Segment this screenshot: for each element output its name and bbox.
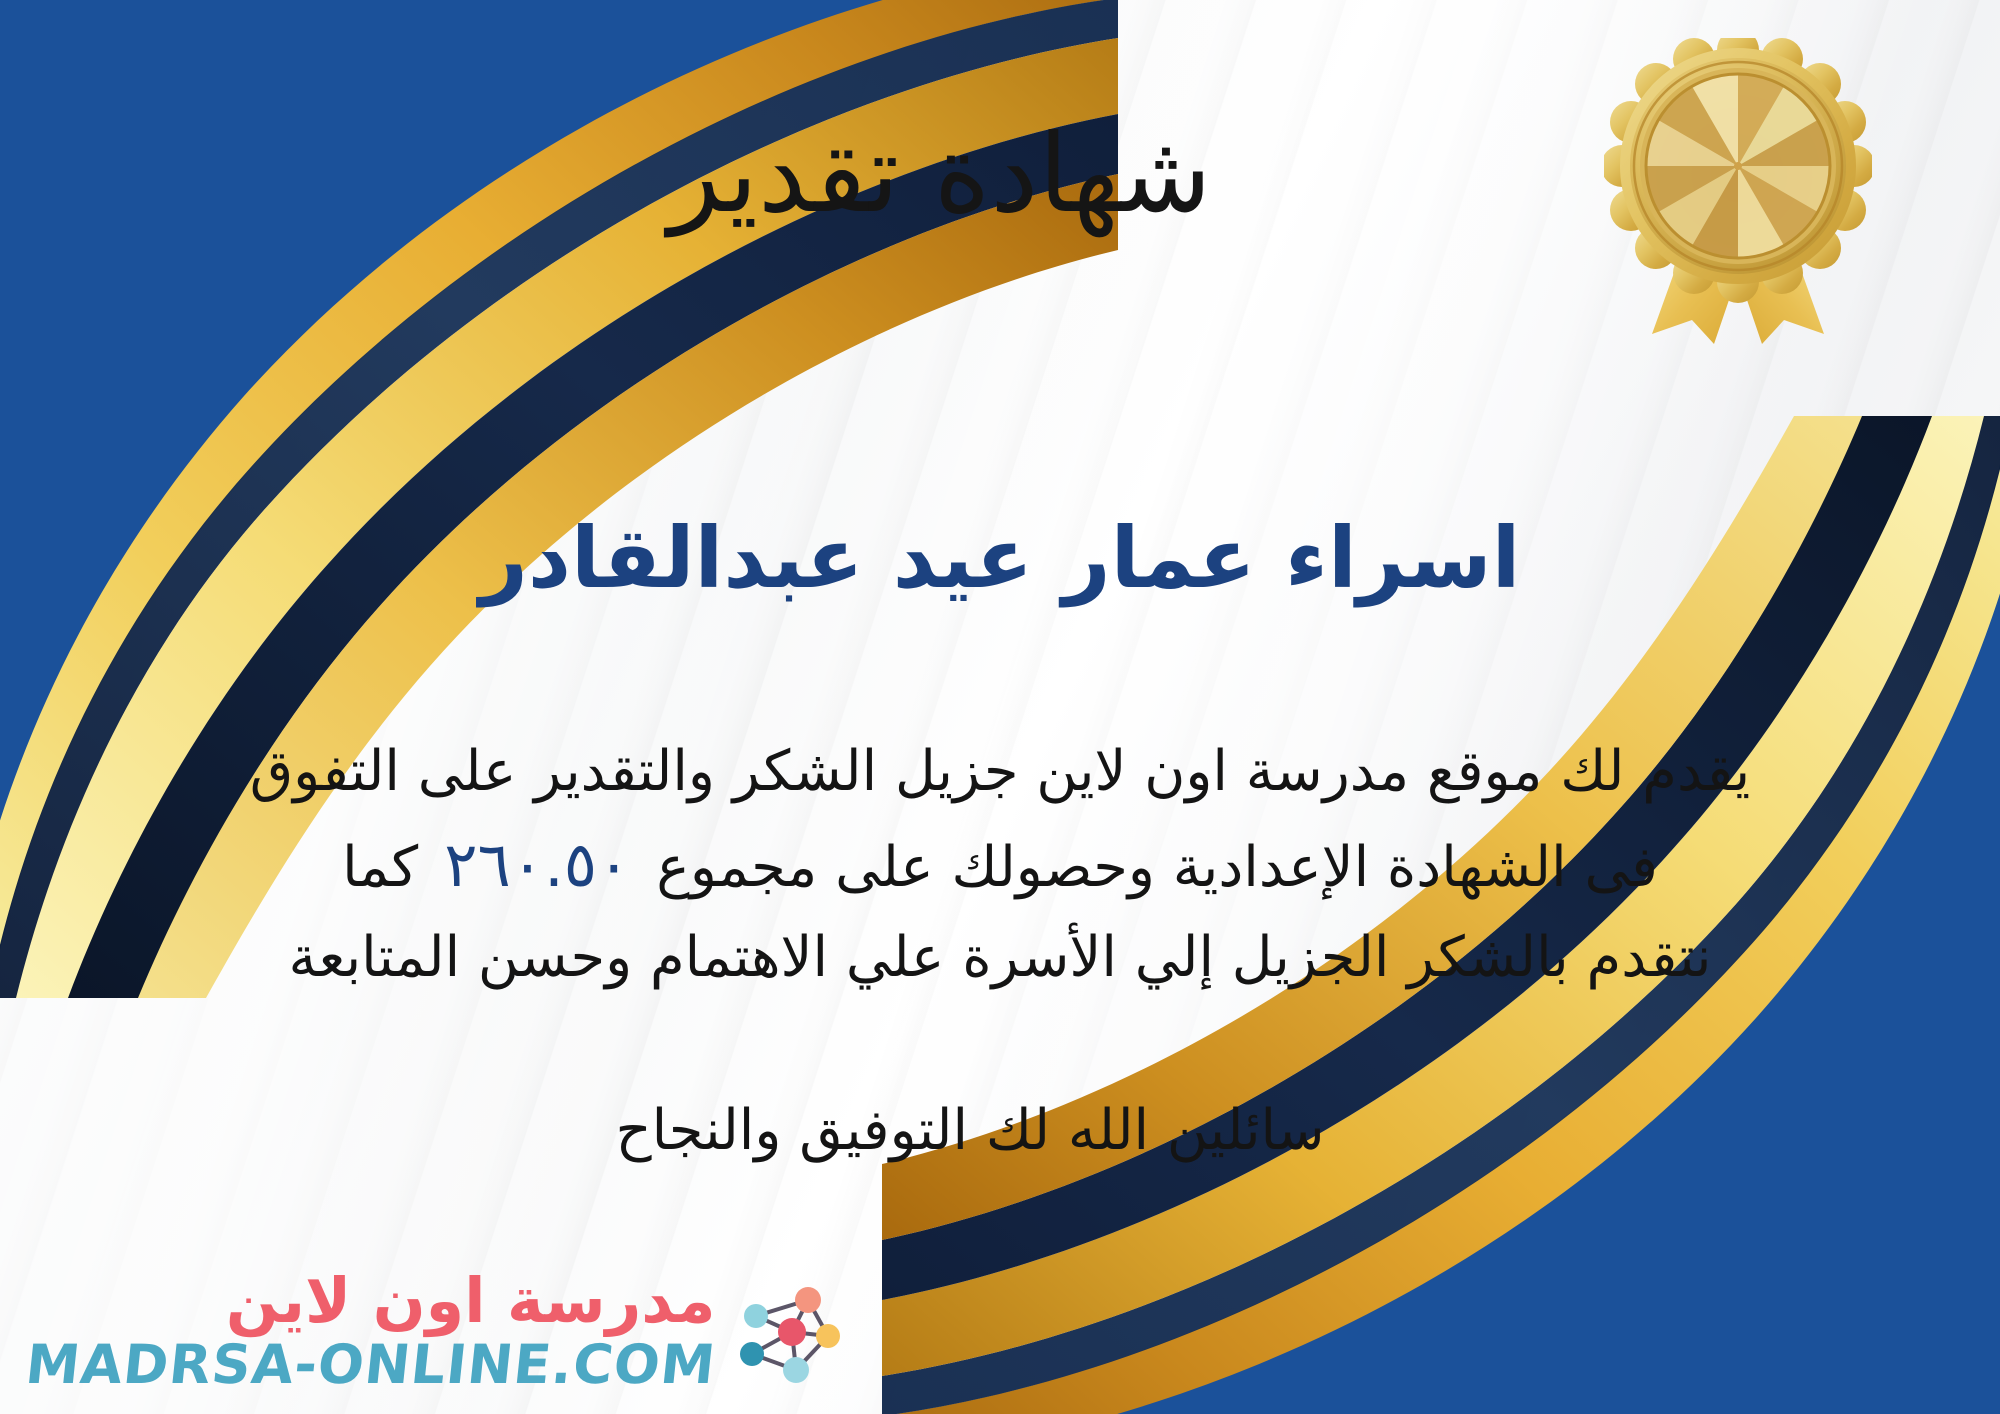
brand-text-column: مدرسة اون لاين MADRSA-ONLINE.COM <box>26 1270 716 1392</box>
body-line-2-suffix: كما <box>342 835 418 900</box>
network-nodes-logo-icon <box>726 1274 846 1394</box>
brand-row: مدرسة اون لاين MADRSA-ONLINE.COM <box>26 1270 846 1392</box>
total-score-value: ٢٦٠.٥٠ <box>418 828 656 901</box>
certificate-content: شهادة تقدير اسراء عمار عيد عبدالقادر يقد… <box>0 0 2000 1414</box>
brand-arabic-name: مدرسة اون لاين <box>226 1270 716 1332</box>
page-title: شهادة تقدير <box>0 118 2000 231</box>
closing-wish-text: سائلين الله لك التوفيق والنجاح <box>0 1092 2000 1170</box>
recipient-name: اسراء عمار عيد عبدالقادر <box>0 512 2000 604</box>
body-line-1: يقدم لك موقع مدرسة اون لاين جزيل الشكر و… <box>60 728 1940 816</box>
brand-website[interactable]: MADRSA-ONLINE.COM <box>23 1338 718 1392</box>
body-line-2: فى الشهادة الإعدادية وحصولك على مجموع٢٦٠… <box>60 816 1940 914</box>
body-text-block: يقدم لك موقع مدرسة اون لاين جزيل الشكر و… <box>60 728 1940 1003</box>
brand-logo[interactable]: مدرسة اون لاين MADRSA-ONLINE.COM <box>26 1270 846 1392</box>
body-line-2-prefix: فى الشهادة الإعدادية وحصولك على مجموع <box>656 835 1658 900</box>
certificate-page: شهادة تقدير اسراء عمار عيد عبدالقادر يقد… <box>0 0 2000 1414</box>
body-line-3: نتقدم بالشكر الجزيل إلي الأسرة علي الاهت… <box>60 914 1940 1002</box>
